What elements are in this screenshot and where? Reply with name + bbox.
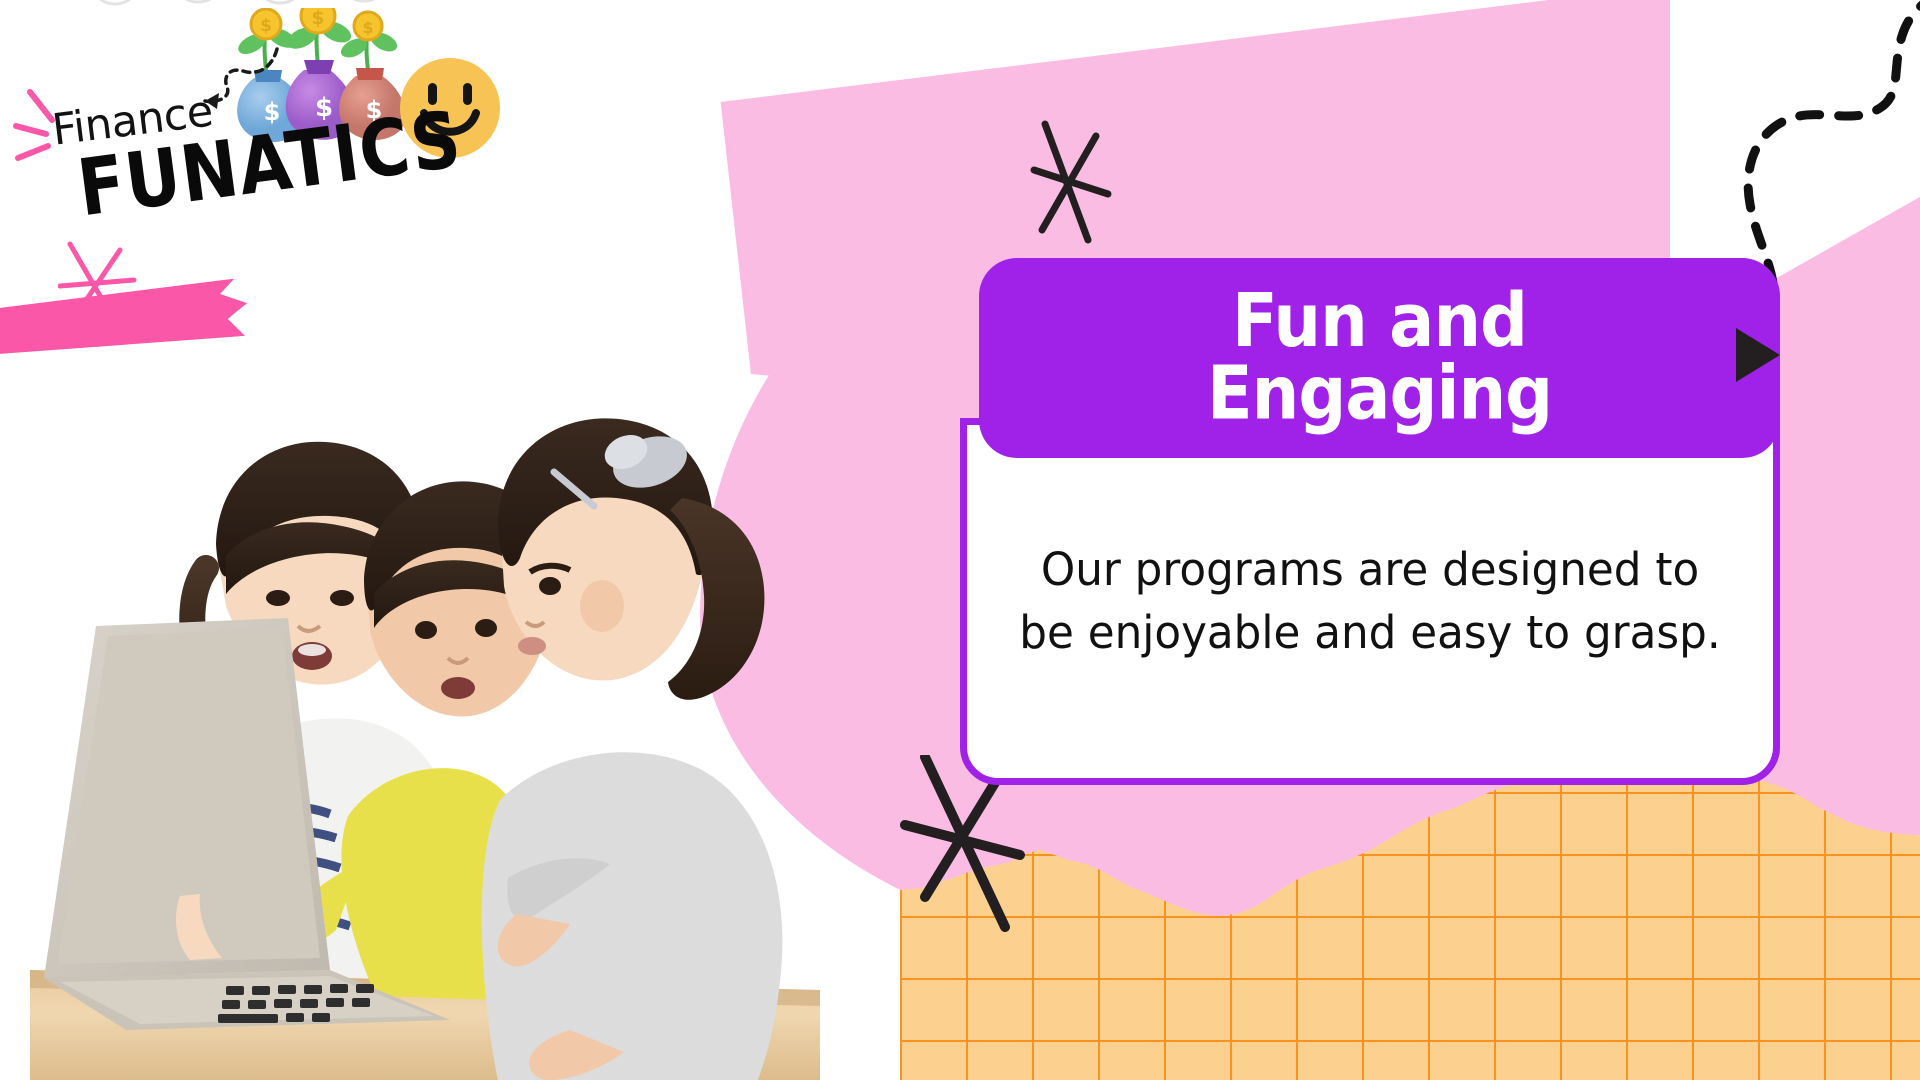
feature-card-title: Fun and Engaging (1207, 286, 1552, 430)
play-triangle-icon[interactable] (1736, 328, 1780, 382)
slide-canvas: $ $ $ $ $ $ (0, 0, 1920, 1080)
svg-text:$: $ (362, 18, 373, 37)
svg-text:$: $ (311, 8, 324, 29)
feature-card: Our programs are designed to be enjoyabl… (960, 258, 1780, 785)
brand-logo[interactable]: $ $ $ $ $ $ (0, 0, 560, 380)
feature-card-header: Fun and Engaging (979, 258, 1780, 458)
svg-text:$: $ (260, 16, 272, 36)
feature-card-description: Our programs are designed to be enjoyabl… (979, 539, 1761, 663)
asterisk-star-top (990, 118, 1135, 263)
feature-card-body: Our programs are designed to be enjoyabl… (960, 418, 1780, 785)
children-with-laptop-photo (30, 330, 820, 1080)
